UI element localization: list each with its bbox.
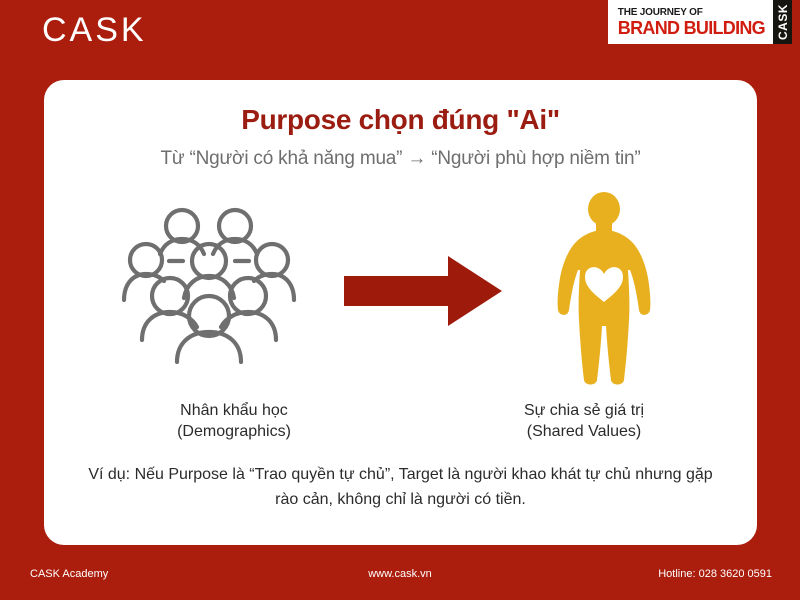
right-caption: Sự chia sẻ giá trị (Shared Values) (434, 400, 734, 442)
example-text: Ví dụ: Nếu Purpose là “Trao quyền tự chủ… (76, 462, 725, 512)
slide-header: CASK THE JOURNEY OF BRAND BUILDING CASK (0, 0, 800, 62)
crowd-people-icon (122, 204, 322, 369)
left-caption: Nhân khẩu học (Demographics) (84, 400, 384, 442)
page-title: Purpose chọn đúng "Ai" (44, 104, 757, 136)
right-caption-line1: Sự chia sẻ giá trị (524, 402, 644, 419)
journey-of-brand-building-badge: THE JOURNEY OF BRAND BUILDING CASK (608, 0, 792, 44)
footer-hotline: Hotline: 028 3620 0591 (658, 568, 772, 580)
cask-wordmark: CASK (42, 8, 147, 52)
badge-text-block: THE JOURNEY OF BRAND BUILDING (608, 0, 773, 44)
right-caption-line2: (Shared Values) (434, 421, 734, 442)
example-line1: Ví dụ: Nếu Purpose là “Trao quyền tự chủ… (88, 466, 630, 483)
person-with-heart-icon (549, 192, 659, 393)
badge-tab-label: CASK (776, 4, 790, 40)
left-caption-line1: Nhân khẩu học (180, 402, 288, 419)
slide-footer: CASK Academy www.cask.vn Hotline: 028 36… (0, 556, 800, 600)
page-subtitle: Từ “Người có khả năng mua” → “Người phù … (44, 148, 757, 170)
transformation-diagram (44, 192, 757, 422)
left-caption-line2: (Demographics) (84, 421, 384, 442)
badge-side-tab: CASK (773, 0, 792, 44)
badge-line-brand-building: BRAND BUILDING (618, 19, 765, 38)
content-card: Purpose chọn đúng "Ai" Từ “Người có khả … (44, 80, 757, 545)
slide-canvas: CASK THE JOURNEY OF BRAND BUILDING CASK … (0, 0, 800, 600)
right-arrow-icon (344, 254, 504, 333)
